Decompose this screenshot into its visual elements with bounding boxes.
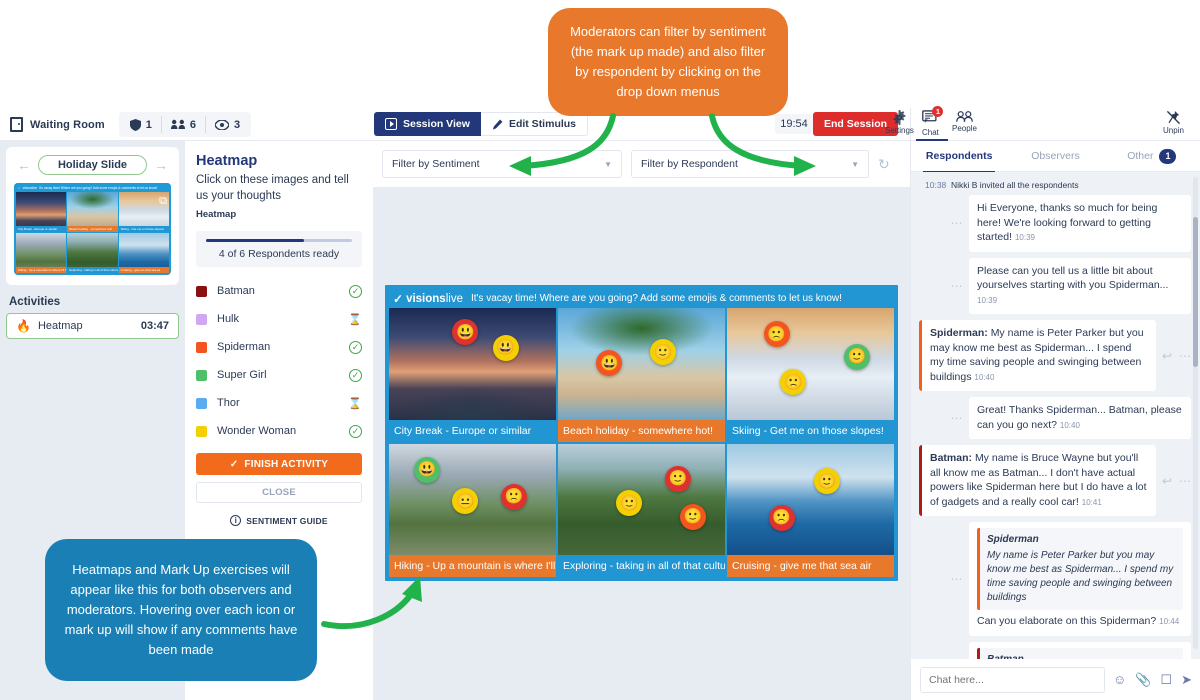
- chat-button[interactable]: 1 Chat: [922, 110, 939, 137]
- progress-bar: [206, 239, 352, 242]
- chat-bubble-quote: BatmanMy name is Bruce Wayne but you'll …: [969, 642, 1191, 660]
- respondent-name: Hulk: [217, 313, 338, 325]
- sentiment-marker[interactable]: 🙂: [814, 468, 840, 494]
- stimulus-caption: Exploring - taking in all of that cultur…: [558, 555, 725, 577]
- message-time: 10:41: [1082, 498, 1102, 507]
- message-time: 10:44: [1159, 617, 1179, 626]
- sentiment-marker[interactable]: 🙂: [616, 490, 642, 516]
- respondent-color-swatch: [196, 426, 207, 437]
- play-icon: [385, 118, 397, 130]
- chat-tab-badge: 1: [1159, 149, 1176, 164]
- chat-input-bar: ☺ 📎 ☐ ➤: [911, 659, 1200, 700]
- quoted-message: SpidermanMy name is Peter Parker but you…: [977, 528, 1183, 610]
- board-header: ✓ visionslive It's vacay time! Where are…: [389, 289, 894, 308]
- thumbnail-grid: City Break - Europe or similar Beach hol…: [14, 192, 171, 275]
- respondent-color-swatch: [196, 398, 207, 409]
- respondents-progress: 4 of 6 Respondents ready: [196, 231, 362, 267]
- message-menu-icon[interactable]: ⋯: [949, 216, 965, 230]
- stimulus-caption: Cruising - give me that sea air: [727, 555, 894, 577]
- respondent-name: Spiderman: [217, 341, 339, 353]
- check-icon: ✓: [230, 459, 239, 470]
- activity-time: 03:47: [141, 320, 169, 332]
- quote-author: Spiderman: [987, 533, 1176, 547]
- sentiment-guide-label: SENTIMENT GUIDE: [246, 516, 327, 526]
- filter-sentiment-value: Filter by Sentiment: [392, 158, 480, 170]
- message-actions[interactable]: ↩⋯: [1160, 474, 1191, 488]
- heatmap-cell[interactable]: 🙁🙂🙁Skiing - Get me on those slopes!: [727, 308, 894, 442]
- thumbnail-cell: Hiking - Up a mountain is where I'll be!: [16, 233, 66, 273]
- slide-thumbnail[interactable]: ✓visionslive It's vacay time! Where are …: [14, 183, 171, 275]
- chat-system-line: 10:38 Nikki B invited all the respondent…: [919, 177, 1191, 195]
- counter-observers[interactable]: 3: [205, 116, 249, 133]
- status-ready-icon: ✓: [349, 369, 362, 382]
- sentiment-marker[interactable]: 😐: [452, 488, 478, 514]
- stimulus-photo: 🙂🙂🙂: [558, 444, 725, 556]
- tab-session-view[interactable]: Session View: [374, 112, 481, 136]
- chat-input[interactable]: [920, 667, 1105, 693]
- stimulus-photo: 😃😐🙁: [389, 444, 556, 556]
- sentiment-marker[interactable]: 🙁: [769, 505, 795, 531]
- reply-icon[interactable]: ↩: [1162, 349, 1172, 363]
- status-ready-icon: ✓: [349, 425, 362, 438]
- info-icon: i: [230, 515, 241, 526]
- message-author: Batman:: [930, 452, 972, 464]
- stimulus-photo: 🙂🙁: [727, 444, 894, 556]
- close-button[interactable]: CLOSE: [196, 482, 362, 503]
- visionslive-logo: ✓ visionslive: [393, 292, 463, 306]
- sentiment-marker[interactable]: 🙁: [501, 484, 527, 510]
- heatmap-cell[interactable]: 😃🙂Beach holiday - somewhere hot!: [558, 308, 725, 442]
- chat-bubble-incoming: Batman: My name is Bruce Wayne but you'l…: [919, 445, 1156, 516]
- unpin-label: Unpin: [1163, 126, 1184, 135]
- chat-bubble-quote: SpidermanMy name is Peter Parker but you…: [969, 522, 1191, 636]
- message-menu-icon[interactable]: ⋯: [1179, 349, 1191, 363]
- message-time: 10:40: [1060, 421, 1080, 430]
- stimulus-caption: Skiing - Get me on those slopes!: [727, 420, 894, 442]
- status-waiting-icon: ⌛: [348, 397, 362, 410]
- message-actions[interactable]: ↩⋯: [1160, 349, 1191, 363]
- unpin-button[interactable]: Unpin: [1163, 110, 1184, 135]
- respondent-name: Batman: [217, 285, 339, 297]
- expand-icon[interactable]: ⧉: [159, 195, 167, 208]
- chat-tab-label: Respondents: [926, 150, 993, 162]
- chat-tabs: RespondentsObserversOther1: [911, 141, 1200, 172]
- heatmap-grid: 😃😃City Break - Europe or similar😃🙂Beach …: [389, 308, 894, 577]
- door-icon: [10, 117, 23, 132]
- chat-bubble-incoming: Spiderman: My name is Peter Parker but y…: [919, 320, 1156, 391]
- chat-message-row: Batman: My name is Bruce Wayne but you'l…: [919, 445, 1191, 516]
- callout-filters: Moderators can filter by sentiment (the …: [548, 8, 788, 116]
- respondent-row[interactable]: Thor⌛: [196, 389, 362, 417]
- sentiment-marker[interactable]: 😃: [414, 457, 440, 483]
- chat-bubble-outgoing: Please can you tell us a little bit abou…: [969, 258, 1191, 315]
- slide-navigation: ← Holiday Slide →: [14, 155, 171, 175]
- chat-input-icons: ☺ 📎 ☐ ➤: [1113, 672, 1192, 688]
- sentiment-marker[interactable]: 🙂: [844, 344, 870, 370]
- message-time: 10:40: [974, 373, 994, 382]
- heatmap-cell[interactable]: 😃😃City Break - Europe or similar: [389, 308, 556, 442]
- chat-tab-label: Observers: [1031, 150, 1079, 162]
- message-text: Hi Everyone, thanks so much for being he…: [977, 202, 1157, 243]
- waiting-room-label: Waiting Room: [30, 119, 105, 131]
- stimulus-caption: Beach holiday - somewhere hot!: [558, 420, 725, 442]
- heatmap-board: ✓ visionslive It's vacay time! Where are…: [385, 285, 898, 581]
- unpin-icon: [1166, 110, 1181, 125]
- chat-message-row: ⋯Great! Thanks Spiderman... Batman, plea…: [919, 397, 1191, 439]
- chat-tab-label: Other: [1127, 150, 1153, 162]
- people-button[interactable]: People: [952, 110, 977, 133]
- chat-message-row: Spiderman: My name is Peter Parker but y…: [919, 320, 1191, 391]
- chat-label: Chat: [922, 128, 939, 137]
- heatmap-description: Click on these images and tell us your t…: [196, 172, 362, 204]
- chat-messages[interactable]: 10:38 Nikki B invited all the respondent…: [911, 172, 1200, 659]
- main-stage: Filter by Sentiment ▼ Filter by Responde…: [373, 141, 910, 700]
- people-icon: [956, 110, 973, 123]
- thumbnail-cell: City Break - Europe or similar: [16, 192, 66, 232]
- message-text: Please can you tell us a little bit abou…: [977, 265, 1168, 292]
- respondent-list: Batman✓Hulk⌛Spiderman✓Super Girl✓Thor⌛Wo…: [196, 277, 362, 445]
- finish-activity-button[interactable]: ✓ FINISH ACTIVITY: [196, 453, 362, 475]
- waiting-room-button[interactable]: Waiting Room: [10, 117, 105, 132]
- activities-heading: Activities: [9, 296, 179, 308]
- heatmap-cell[interactable]: 🙂🙁Cruising - give me that sea air: [727, 444, 894, 578]
- emoji-icon[interactable]: ☺: [1113, 672, 1126, 687]
- respondent-name: Super Girl: [217, 369, 339, 381]
- refresh-icon[interactable]: ↻: [878, 156, 890, 173]
- chat-tab-other[interactable]: Other1: [1104, 141, 1200, 172]
- respondent-name: Wonder Woman: [217, 425, 339, 437]
- settings-label: Settings: [885, 126, 914, 135]
- people-icon: [171, 119, 185, 130]
- message-menu-icon[interactable]: ⋯: [949, 572, 965, 586]
- quote-text: My name is Peter Parker but you may know…: [987, 550, 1173, 603]
- chat-message-row: ⋯BatmanMy name is Bruce Wayne but you'll…: [919, 642, 1191, 660]
- settings-button[interactable]: Settings: [885, 110, 914, 135]
- chat-scrollbar[interactable]: [1193, 177, 1198, 649]
- progress-label: 4 of 6 Respondents ready: [206, 248, 352, 260]
- sentiment-guide-link[interactable]: i SENTIMENT GUIDE: [196, 515, 362, 526]
- message-text: Can you elaborate on this Spiderman?: [977, 615, 1156, 627]
- sentiment-marker[interactable]: 🙁: [780, 369, 806, 395]
- thumbnail-header: ✓visionslive It's vacay time! Where are …: [14, 183, 171, 192]
- thumbnail-cell: Cruising - give me that sea air: [119, 233, 169, 273]
- sentiment-marker[interactable]: 😃: [452, 319, 478, 345]
- reply-icon[interactable]: ↩: [1162, 474, 1172, 488]
- status-counters: 1 6 3: [119, 112, 251, 137]
- quoted-message: BatmanMy name is Bruce Wayne but you'll …: [977, 648, 1183, 660]
- send-icon[interactable]: ➤: [1181, 672, 1192, 688]
- people-label: People: [952, 124, 977, 133]
- chat-tab-observers[interactable]: Observers: [1007, 141, 1103, 172]
- counter-respondents[interactable]: 6: [161, 116, 205, 133]
- logo-check-icon: ✓: [393, 292, 403, 306]
- respondent-name: Thor: [217, 397, 338, 409]
- activity-item-heatmap[interactable]: 🔥 Heatmap 03:47: [6, 313, 179, 339]
- chat-message-row: ⋯Please can you tell us a little bit abo…: [919, 258, 1191, 315]
- sentiment-marker[interactable]: 🙁: [764, 321, 790, 347]
- arrow-right-icon[interactable]: →: [151, 157, 171, 173]
- message-menu-icon[interactable]: ⋯: [949, 279, 965, 293]
- counter-moderators[interactable]: 1: [121, 116, 161, 133]
- shield-icon: [130, 119, 141, 131]
- thumbnail-cell: Beach holiday - somewhere hot!: [67, 192, 117, 232]
- respondent-row[interactable]: Super Girl✓: [196, 361, 362, 389]
- stimulus-photo: 🙁🙂🙁: [727, 308, 894, 420]
- eye-icon: [215, 120, 229, 130]
- stimulus-photo: 😃😃: [389, 308, 556, 420]
- arrow-to-heatmap-board: [318, 560, 438, 650]
- heatmap-subtype: Heatmap: [196, 209, 362, 220]
- brand-suffix: live: [446, 293, 463, 305]
- slide-card: ← Holiday Slide → ✓visionslive It's vaca…: [6, 147, 179, 285]
- sentiment-marker[interactable]: 😃: [596, 350, 622, 376]
- heatmap-cell[interactable]: 😃😐🙁Hiking - Up a mountain is where I'll …: [389, 444, 556, 578]
- status-ready-icon: ✓: [349, 285, 362, 298]
- chevron-down-icon: ▼: [851, 160, 859, 169]
- board-headline: It's vacay time! Where are you going? Ad…: [471, 293, 842, 304]
- respondent-color-swatch: [196, 370, 207, 381]
- heatmap-cell[interactable]: 🙂🙂🙂Exploring - taking in all of that cul…: [558, 444, 725, 578]
- activity-name: Heatmap: [38, 320, 134, 332]
- callout-heatmap: Heatmaps and Mark Up exercises will appe…: [45, 539, 317, 681]
- respondent-color-swatch: [196, 314, 207, 325]
- sentiment-marker[interactable]: 🙂: [665, 466, 691, 492]
- status-ready-icon: ✓: [349, 341, 362, 354]
- chat-bubble-outgoing: Hi Everyone, thanks so much for being he…: [969, 195, 1191, 252]
- note-icon[interactable]: ☐: [1160, 672, 1172, 688]
- chat-tab-respondents[interactable]: Respondents: [911, 141, 1007, 172]
- slide-name-pill[interactable]: Holiday Slide: [38, 155, 147, 175]
- respondent-color-swatch: [196, 342, 207, 353]
- message-menu-icon[interactable]: ⋯: [1179, 474, 1191, 488]
- message-time: 10:39: [1015, 233, 1035, 242]
- attachment-icon[interactable]: 📎: [1135, 672, 1151, 688]
- chat-message-row: ⋯SpidermanMy name is Peter Parker but yo…: [919, 522, 1191, 636]
- stimulus-photo: 😃🙂: [558, 308, 725, 420]
- arrow-left-icon[interactable]: ←: [14, 157, 34, 173]
- heatmap-title: Heatmap: [196, 153, 362, 169]
- sentiment-marker[interactable]: 🙂: [680, 504, 706, 530]
- sentiment-marker[interactable]: 🙂: [650, 339, 676, 365]
- message-menu-icon[interactable]: ⋯: [949, 411, 965, 425]
- respondent-row[interactable]: Batman✓: [196, 277, 362, 305]
- chat-bubble-outgoing: Great! Thanks Spiderman... Batman, pleas…: [969, 397, 1191, 439]
- respondent-row[interactable]: Wonder Woman✓: [196, 417, 362, 445]
- thumbnail-cell: Exploring - taking in all of that cultur…: [67, 233, 117, 273]
- respondent-row[interactable]: Spiderman✓: [196, 333, 362, 361]
- finish-activity-label: FINISH ACTIVITY: [244, 459, 328, 470]
- respondent-color-swatch: [196, 286, 207, 297]
- brand-name: visions: [406, 293, 446, 305]
- flame-icon: 🔥: [16, 319, 31, 333]
- stimulus-caption: City Break - Europe or similar: [389, 420, 556, 442]
- chat-message-row: ⋯Hi Everyone, thanks so much for being h…: [919, 195, 1191, 252]
- status-waiting-icon: ⌛: [348, 313, 362, 326]
- chat-panel: RespondentsObserversOther1 10:38 Nikki B…: [910, 141, 1200, 700]
- arrow-to-respondent-filter: [700, 110, 830, 180]
- message-time: 10:39: [977, 296, 997, 305]
- respondent-row[interactable]: Hulk⌛: [196, 305, 362, 333]
- message-author: Spiderman:: [930, 327, 988, 339]
- sentiment-marker[interactable]: 😃: [493, 335, 519, 361]
- gear-icon: [892, 110, 907, 125]
- arrow-to-sentiment-filter: [495, 110, 625, 180]
